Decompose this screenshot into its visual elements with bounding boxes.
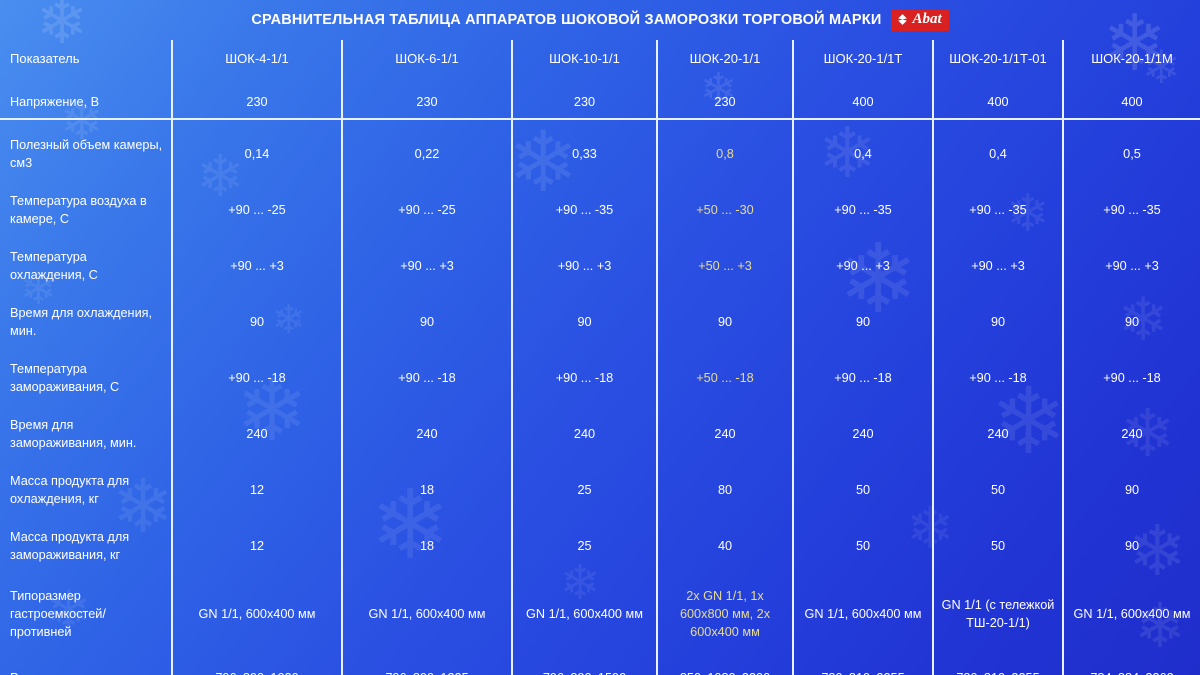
- row-label: Масса продукта для охлаждения, кг: [0, 462, 172, 518]
- table-row: Время для замораживания, мин.24024024024…: [0, 406, 1200, 462]
- table-cell: 18: [342, 462, 512, 518]
- table-cell: 780x810x2255: [933, 654, 1063, 675]
- table-cell: +90 ... -18: [1063, 350, 1200, 406]
- table-cell: 784x884x2362: [1063, 654, 1200, 675]
- table-cell: +90 ... -25: [172, 182, 342, 238]
- table-cell: 90: [1063, 462, 1200, 518]
- table-cell: 12: [172, 518, 342, 574]
- table-cell: 240: [933, 406, 1063, 462]
- table-cell: +90 ... +3: [1063, 238, 1200, 294]
- comparison-table: Показатель ШОК-4-1/1 ШОК-6-1/1 ШОК-10-1/…: [0, 40, 1200, 675]
- row-label: Время для охлаждения, мин.: [0, 294, 172, 350]
- row-label: Температура воздуха в камере, С: [0, 182, 172, 238]
- table-body: Напряжение, В230230230230400400400Полезн…: [0, 78, 1200, 675]
- table-cell: 0,4: [933, 126, 1063, 182]
- table-row: Размеры, мм796x890x1020796x890x1325796x8…: [0, 654, 1200, 675]
- table-cell: +90 ... -35: [512, 182, 657, 238]
- table-cell: +90 ... -18: [342, 350, 512, 406]
- table-cell: +90 ... +3: [342, 238, 512, 294]
- table-cell: 240: [793, 406, 933, 462]
- row-label: Температура замораживания, С: [0, 350, 172, 406]
- table-cell: GN 1/1 (с тележкой ТШ-20-1/1): [933, 574, 1063, 654]
- table-cell: 240: [512, 406, 657, 462]
- table-row: Время для охлаждения, мин.90909090909090: [0, 294, 1200, 350]
- table-cell: 0,33: [512, 126, 657, 182]
- table-row: Масса продукта для охлаждения, кг1218258…: [0, 462, 1200, 518]
- table-cell: +50 ... -18: [657, 350, 793, 406]
- column-header-metric: Показатель: [0, 40, 172, 78]
- table-cell: 796x890x1020: [172, 654, 342, 675]
- table-cell: 240: [1063, 406, 1200, 462]
- column-header-shok-20-1-1t-01: ШОК-20-1/1Т-01: [933, 40, 1063, 78]
- table-cell: +90 ... -18: [172, 350, 342, 406]
- table-cell: +90 ... -18: [512, 350, 657, 406]
- table-cell: +90 ... -35: [933, 182, 1063, 238]
- table-cell: +90 ... -25: [342, 182, 512, 238]
- table-cell: +90 ... -35: [1063, 182, 1200, 238]
- table-cell: 0,8: [657, 126, 793, 182]
- table-cell: 50: [933, 518, 1063, 574]
- column-header-shok-20-1-1m: ШОК-20-1/1М: [1063, 40, 1200, 78]
- column-header-shok-4-1-1: ШОК-4-1/1: [172, 40, 342, 78]
- table-cell: 90: [512, 294, 657, 350]
- table-cell: +50 ... +3: [657, 238, 793, 294]
- table-head: Показатель ШОК-4-1/1 ШОК-6-1/1 ШОК-10-1/…: [0, 40, 1200, 78]
- table-cell: 240: [172, 406, 342, 462]
- comparison-table-page: ❄ ❄ ❄ ❄ ❄ ❄ ❄ ❄ ❄ ❄ ❄ ❄ ❄ ❄ ❄ ❄ ❄ ❄ ❄ ❄ …: [0, 0, 1200, 675]
- table-cell: 240: [342, 406, 512, 462]
- table-cell: 90: [342, 294, 512, 350]
- column-header-shok-10-1-1: ШОК-10-1/1: [512, 40, 657, 78]
- table-cell: 25: [512, 462, 657, 518]
- row-label: Размеры, мм: [0, 654, 172, 675]
- table-cell: 796x890x1590: [512, 654, 657, 675]
- diamond-mark-icon: [896, 13, 909, 26]
- table-cell: GN 1/1, 600x400 мм: [793, 574, 933, 654]
- table-cell: 50: [793, 462, 933, 518]
- row-label: Масса продукта для замораживания, кг: [0, 518, 172, 574]
- table-cell: +90 ... -35: [793, 182, 933, 238]
- table-header-row: Показатель ШОК-4-1/1 ШОК-6-1/1 ШОК-10-1/…: [0, 40, 1200, 78]
- table-cell: GN 1/1, 600x400 мм: [1063, 574, 1200, 654]
- table-cell: 40: [657, 518, 793, 574]
- table-cell: 50: [933, 462, 1063, 518]
- table-row: Типоразмер гастроемкостей/ противнейGN 1…: [0, 574, 1200, 654]
- row-label: Время для замораживания, мин.: [0, 406, 172, 462]
- table-cell: +50 ... -30: [657, 182, 793, 238]
- table-cell: +90 ... +3: [512, 238, 657, 294]
- table-row: Температура охлаждения, С+90 ... +3+90 .…: [0, 238, 1200, 294]
- table-cell: 90: [657, 294, 793, 350]
- table-cell: +90 ... +3: [172, 238, 342, 294]
- table-row: Масса продукта для замораживания, кг1218…: [0, 518, 1200, 574]
- table-cell: +90 ... +3: [933, 238, 1063, 294]
- table-cell: 18: [342, 518, 512, 574]
- table-cell: 90: [1063, 518, 1200, 574]
- table-cell: +90 ... +3: [793, 238, 933, 294]
- table-cell: 0,22: [342, 126, 512, 182]
- page-title: СРАВНИТЕЛЬНАЯ ТАБЛИЦА АППАРАТОВ ШОКОВОЙ …: [251, 12, 881, 28]
- table-cell: 2x GN 1/1, 1x 600x800 мм, 2x 600x400 мм: [657, 574, 793, 654]
- table-cell: 80: [657, 462, 793, 518]
- table-cell: 240: [657, 406, 793, 462]
- table-cell: GN 1/1, 600x400 мм: [172, 574, 342, 654]
- table-cell: 90: [1063, 294, 1200, 350]
- table-cell: 0,5: [1063, 126, 1200, 182]
- table-row: Температура замораживания, С+90 ... -18+…: [0, 350, 1200, 406]
- column-header-shok-20-1-1t: ШОК-20-1/1Т: [793, 40, 933, 78]
- table-cell: 90: [793, 294, 933, 350]
- table-cell: 25: [512, 518, 657, 574]
- table-cell: 90: [933, 294, 1063, 350]
- table-cell: 0,4: [793, 126, 933, 182]
- column-header-shok-20-1-1: ШОК-20-1/1: [657, 40, 793, 78]
- table-row: Температура воздуха в камере, С+90 ... -…: [0, 182, 1200, 238]
- table-cell: 850x1080x2200: [657, 654, 793, 675]
- row-label: Типоразмер гастроемкостей/ противней: [0, 574, 172, 654]
- table-cell: +90 ... -18: [793, 350, 933, 406]
- table-cell: 796x890x1325: [342, 654, 512, 675]
- table-cell: +90 ... -18: [933, 350, 1063, 406]
- table-cell: 50: [793, 518, 933, 574]
- table-cell: 90: [172, 294, 342, 350]
- table-cell: 12: [172, 462, 342, 518]
- table-row: Полезный объем камеры, см30,140,220,330,…: [0, 126, 1200, 182]
- table-cell: GN 1/1, 600x400 мм: [512, 574, 657, 654]
- comparison-table-container: Показатель ШОК-4-1/1 ШОК-6-1/1 ШОК-10-1/…: [0, 40, 1200, 675]
- column-header-shok-6-1-1: ШОК-6-1/1: [342, 40, 512, 78]
- page-header: СРАВНИТЕЛЬНАЯ ТАБЛИЦА АППАРАТОВ ШОКОВОЙ …: [0, 0, 1200, 40]
- brand-logo: Abat: [891, 10, 948, 31]
- table-cell: 780x810x2255: [793, 654, 933, 675]
- brand-logo-text: Abat: [912, 12, 941, 27]
- table-cell: GN 1/1, 600x400 мм: [342, 574, 512, 654]
- row-label: Температура охлаждения, С: [0, 238, 172, 294]
- table-cell: 0,14: [172, 126, 342, 182]
- header-divider: [0, 118, 1200, 120]
- row-label: Полезный объем камеры, см3: [0, 126, 172, 182]
